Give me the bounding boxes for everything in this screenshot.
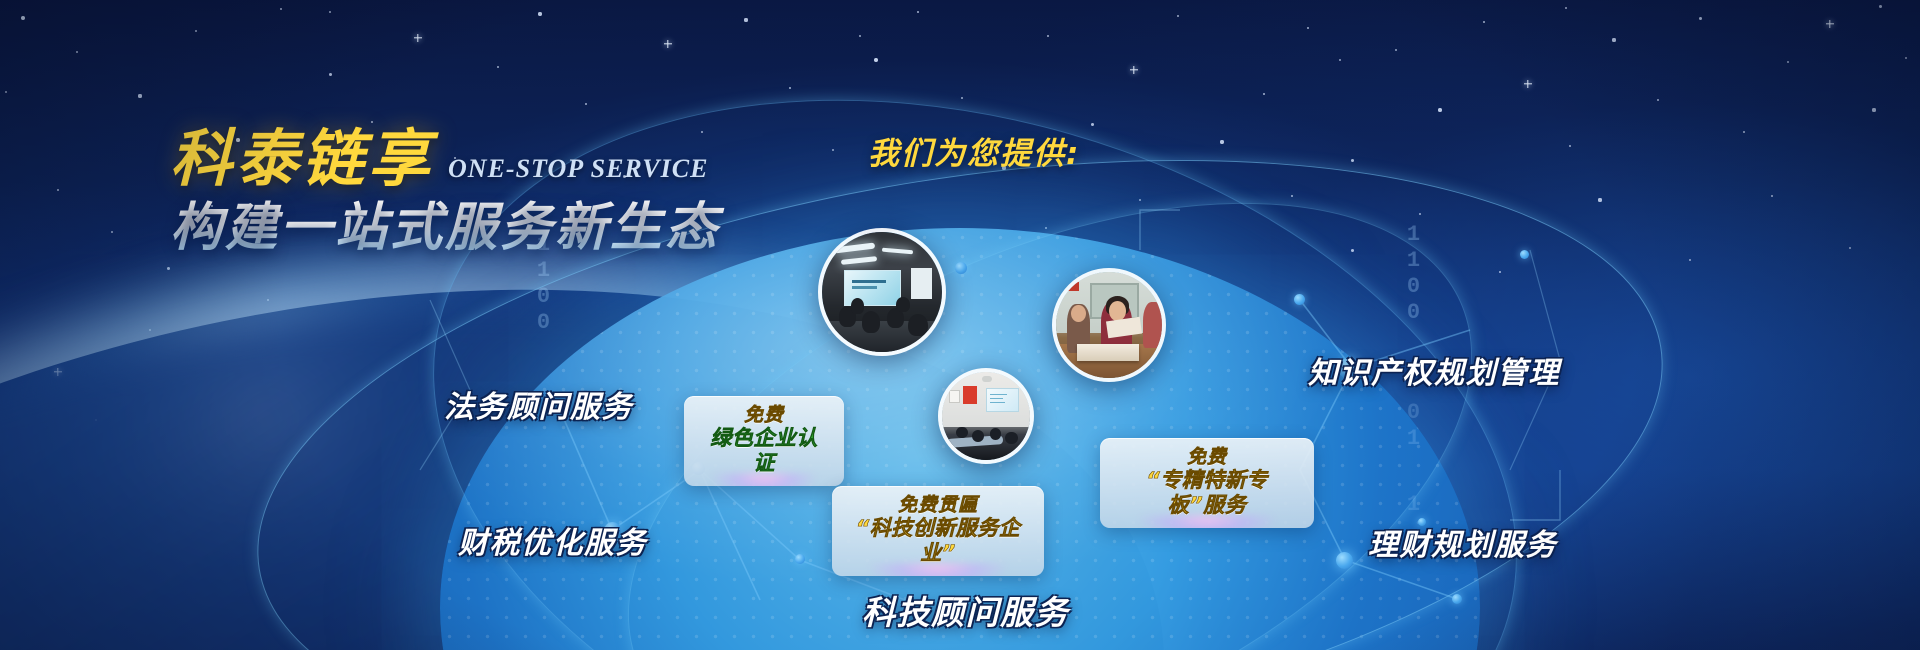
ceiling-light	[834, 243, 875, 254]
attendee-head	[1005, 432, 1017, 444]
badge-line-2: “科技创新服务企业”	[850, 516, 1026, 566]
binary-column: 1	[1400, 492, 1426, 518]
attendee-head	[990, 428, 1001, 439]
screen-text-bar	[852, 286, 876, 288]
badge-green-enterprise-certification[interactable]: 免费 绿色企业认证	[684, 396, 844, 486]
screen-text-bar	[852, 280, 885, 283]
headline-block: 科泰链享 ONE-STOP SERVICE 构建一站式服务新生态	[170, 128, 790, 256]
badge-line-1: 免费贯匾	[850, 494, 1026, 516]
badge-tech-innovation-plaque[interactable]: 免费贯匾 “科技创新服务企业”	[832, 486, 1044, 576]
network-node	[1520, 250, 1529, 259]
network-node	[955, 262, 967, 274]
network-node	[795, 554, 805, 564]
binary-column: 01	[1400, 400, 1426, 452]
screen-line	[990, 398, 1003, 399]
badge-specialized-new-board-service[interactable]: 免费 “专精特新专板”服务	[1100, 438, 1314, 528]
service-label-tech-consulting[interactable]: 科技顾问服务	[862, 586, 1069, 634]
document-stack	[1077, 344, 1138, 361]
audience-head	[908, 314, 927, 337]
projector	[982, 376, 992, 382]
photo-image	[1056, 272, 1162, 378]
presentation-screen	[986, 388, 1019, 413]
person-right	[1143, 302, 1164, 349]
national-flag	[963, 386, 977, 404]
network-node	[1294, 294, 1305, 305]
seminar-room-photo	[818, 228, 946, 356]
audience-head	[862, 311, 880, 333]
wall-sign	[1062, 282, 1079, 292]
brand-title: 科泰链享	[170, 128, 434, 190]
photo-image	[942, 372, 1030, 460]
headline-subtitle: 构建一站式服务新生态	[170, 200, 790, 256]
whiteboard	[911, 268, 933, 299]
meeting-room-photo	[938, 368, 1034, 464]
binary-column: 1100	[1400, 222, 1426, 326]
badge-line-2: “专精特新专板”服务	[1118, 468, 1296, 518]
wall-frame	[949, 390, 960, 403]
office-consultation-photo	[1052, 268, 1166, 382]
audience-head	[851, 298, 864, 314]
attendee-head	[956, 427, 967, 438]
network-node	[1452, 594, 1462, 604]
promo-banner: 1100 1100 01 1 科泰链享 ONE-STOP SERVICE 构建一…	[0, 0, 1920, 650]
service-label-ip-management[interactable]: 知识产权规划管理	[1308, 348, 1560, 392]
brand-tagline-en: ONE-STOP SERVICE	[448, 154, 708, 190]
ceiling-light	[841, 257, 877, 266]
badge-line-1: 免费	[702, 404, 826, 426]
audience-head	[896, 297, 909, 313]
badge-line-2: 绿色企业认证	[702, 426, 826, 476]
service-label-wealth-planning[interactable]: 理财规划服务	[1368, 520, 1557, 564]
network-node	[1336, 552, 1353, 569]
service-label-tax[interactable]: 财税优化服务	[458, 518, 647, 562]
screen-line	[990, 402, 1005, 403]
provide-title: 我们为您提供:	[868, 128, 1080, 173]
person-center-face	[1109, 301, 1126, 321]
service-label-legal[interactable]: 法务顾问服务	[444, 382, 633, 426]
badge-line-1: 免费	[1118, 446, 1296, 468]
document-sheet	[1106, 316, 1142, 338]
ceiling-light	[882, 247, 913, 254]
person-left-face	[1071, 305, 1086, 322]
photo-image	[822, 232, 942, 352]
screen-line	[990, 394, 1007, 395]
